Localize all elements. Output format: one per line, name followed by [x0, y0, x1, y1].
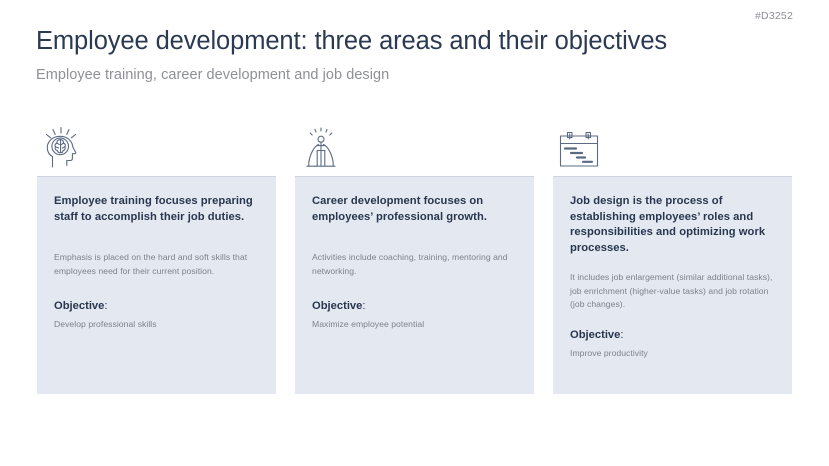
objective-label-text: Objective — [54, 300, 104, 312]
objective-label-text: Objective — [312, 300, 362, 312]
column-employee-training: Employee training focuses preparing staf… — [37, 122, 276, 394]
card-body: Activities include coaching, training, m… — [312, 251, 517, 278]
slide-code: #D3252 — [755, 10, 793, 22]
card-career-development: Career development focuses on employees’… — [295, 176, 534, 394]
objective-colon: : — [620, 329, 623, 341]
page-title: Employee development: three areas and th… — [36, 26, 796, 56]
card-body: Emphasis is placed on the hard and soft … — [54, 251, 259, 278]
slide-header: Employee development: three areas and th… — [36, 26, 796, 85]
column-career-development: Career development focuses on employees’… — [295, 122, 534, 394]
objective-value: Maximize employee potential — [312, 318, 517, 331]
person-cape-growth-icon — [295, 122, 534, 172]
slide: #D3252 Employee development: three areas… — [0, 0, 829, 466]
card-heading: Employee training focuses preparing staf… — [54, 194, 259, 225]
card-body: It includes job enlargement (similar add… — [570, 271, 775, 312]
page-subtitle: Employee training, career development an… — [36, 65, 796, 85]
objective-label: Objective: — [312, 299, 517, 314]
gantt-board-schedule-icon — [553, 122, 792, 172]
card-heading: Career development focuses on employees’… — [312, 194, 517, 225]
columns-container: Employee training focuses preparing staf… — [37, 122, 793, 394]
objective-colon: : — [362, 300, 365, 312]
card-employee-training: Employee training focuses preparing staf… — [37, 176, 276, 394]
objective-colon: : — [104, 300, 107, 312]
objective-value: Develop professional skills — [54, 318, 259, 331]
objective-value: Improve productivity — [570, 347, 775, 360]
objective-label: Objective: — [570, 328, 775, 343]
card-job-design: Job design is the process of establishin… — [553, 176, 792, 394]
head-brain-idea-icon — [37, 122, 276, 172]
column-job-design: Job design is the process of establishin… — [553, 122, 792, 394]
objective-label-text: Objective — [570, 329, 620, 341]
objective-label: Objective: — [54, 299, 259, 314]
card-heading: Job design is the process of establishin… — [570, 194, 775, 256]
